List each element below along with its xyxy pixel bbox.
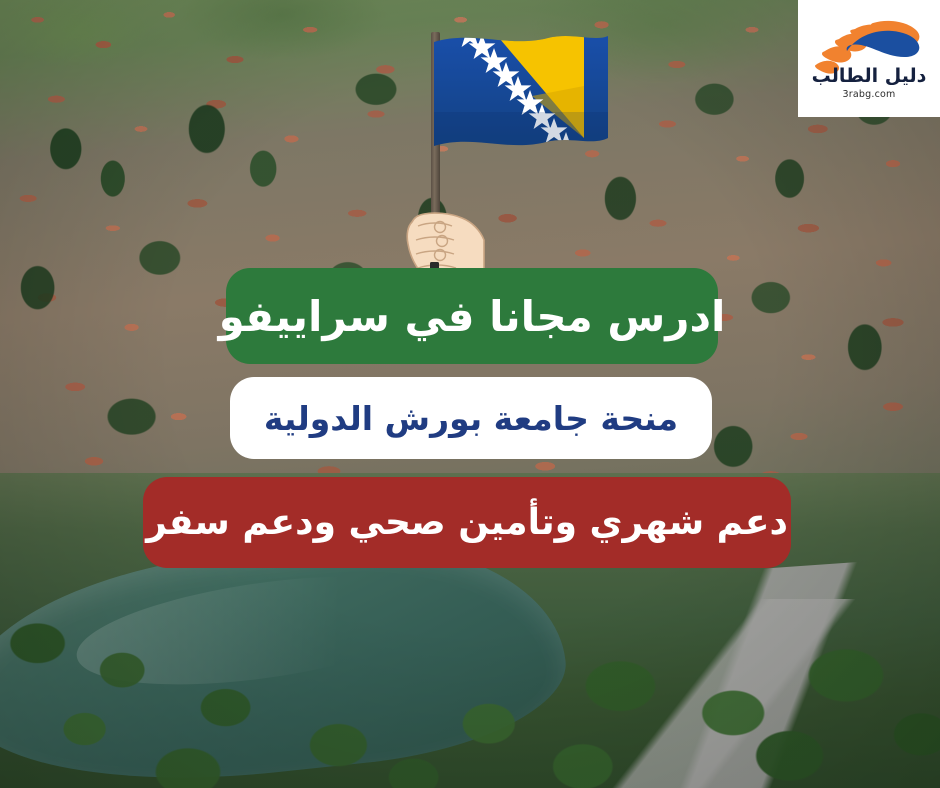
- bosnia-herzegovina-flag: [432, 26, 632, 176]
- brand-logo[interactable]: دليل الطالب 3rabg.com: [798, 0, 940, 117]
- brand-domain: 3rabg.com: [843, 89, 896, 100]
- brand-name: دليل الطالب: [812, 67, 927, 86]
- subheadline-banner: منحة جامعة بورش الدولية: [230, 377, 712, 459]
- benefits-text: دعم شهري وتأمين صحي ودعم سفر: [146, 502, 788, 543]
- headline-text: ادرس مجانا في سراييفو: [219, 292, 726, 341]
- benefits-banner: دعم شهري وتأمين صحي ودعم سفر: [143, 477, 791, 568]
- flag-with-hand: [404, 12, 604, 282]
- promo-poster: دليل الطالب 3rabg.com ادرس مجانا في سراي…: [0, 0, 940, 788]
- headline-banner: ادرس مجانا في سراييفو: [226, 268, 718, 364]
- subheadline-text: منحة جامعة بورش الدولية: [264, 399, 678, 438]
